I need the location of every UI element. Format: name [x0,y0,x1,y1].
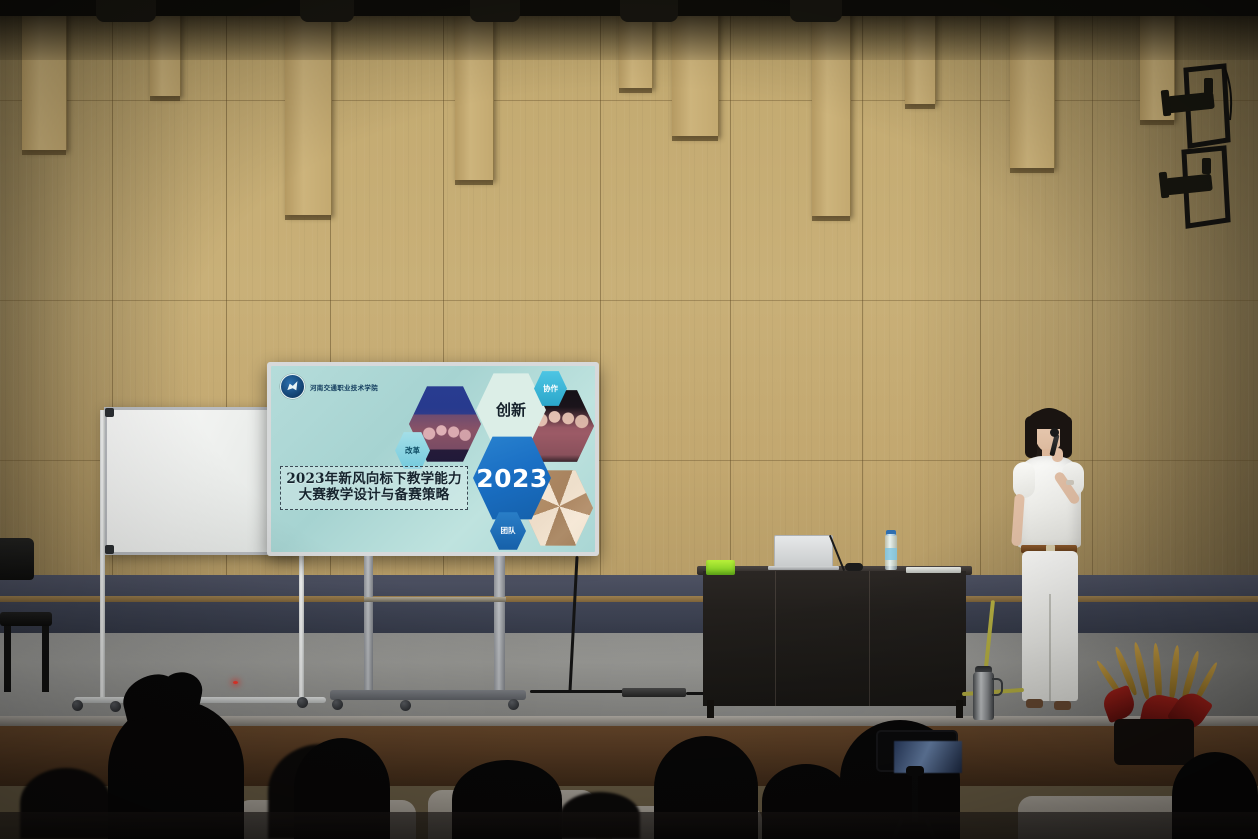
presenter-shoe [1054,701,1071,710]
piano-bench [0,612,52,626]
presenter-wristwatch [1066,480,1074,485]
presenter-sleeve-left [1013,462,1035,498]
presenter-shoe [1026,699,1043,708]
house-darkness [0,812,1258,839]
tv-cart-caster [508,699,519,710]
slide-title-line-1: 2023年新风向标下教学能力 [285,472,463,488]
hexagon-label-text: 协作 [543,385,558,393]
microphone-head-icon [1050,428,1059,437]
tv-cart-column [494,556,505,698]
power-strip [622,688,686,697]
flower-vase [1114,719,1194,765]
slide-canvas: 河南交通职业技术学院 创新 [271,366,595,552]
slide-title-block: 2023年新风向标下教学能力 大赛教学设计与备赛策略 [280,466,468,510]
laptop-base [768,566,839,570]
hexagon-label-text: 改革 [405,447,420,455]
presenter [1000,408,1096,728]
tripod-head [906,766,924,776]
tv-cart-caster [332,699,343,710]
thermos [973,672,994,720]
hexagon-cluster: 创新 协作 改革 2023 团队 [271,366,595,552]
tv-cart-base [330,690,526,700]
stage-lighting-rig [1154,60,1234,250]
whiteboard-caster [72,700,83,711]
piano [0,538,34,580]
trouser-seam [1049,594,1051,701]
auditorium-scene: 河南交通职业技术学院 创新 [0,0,1258,839]
presenter-hair-side [1025,416,1037,458]
whiteboard-caster [297,697,308,708]
thermos-handle [992,678,1003,696]
tv-cart-shelf [364,597,506,602]
tv-cart-caster [400,700,411,711]
hexagon-year-text: 2023 [476,466,548,491]
papers-on-desk [906,567,961,573]
piano-bench-leg [4,626,11,692]
whiteboard-post [100,410,105,700]
bottle-label [885,548,897,560]
laser-pointer-dot [233,681,238,684]
desk-leg [956,700,963,718]
desk-microphone-base [845,563,863,571]
presentation-display[interactable]: 河南交通职业技术学院 创新 [267,362,599,556]
tv-cart-column [364,556,373,698]
whiteboard-caster [110,701,121,712]
hexagon-label-text: 团队 [501,527,516,535]
tissue-box [706,560,735,575]
floral-arrangement [1086,641,1256,761]
piano-bench-leg [42,626,49,692]
desk-leg [707,700,714,718]
slide-title-line-2: 大赛教学设计与备赛策略 [285,488,463,504]
hexagon-label-text: 创新 [496,403,526,418]
laptop[interactable] [774,535,833,567]
phone-screen-preview [894,741,962,773]
presenter-desk [703,571,966,706]
